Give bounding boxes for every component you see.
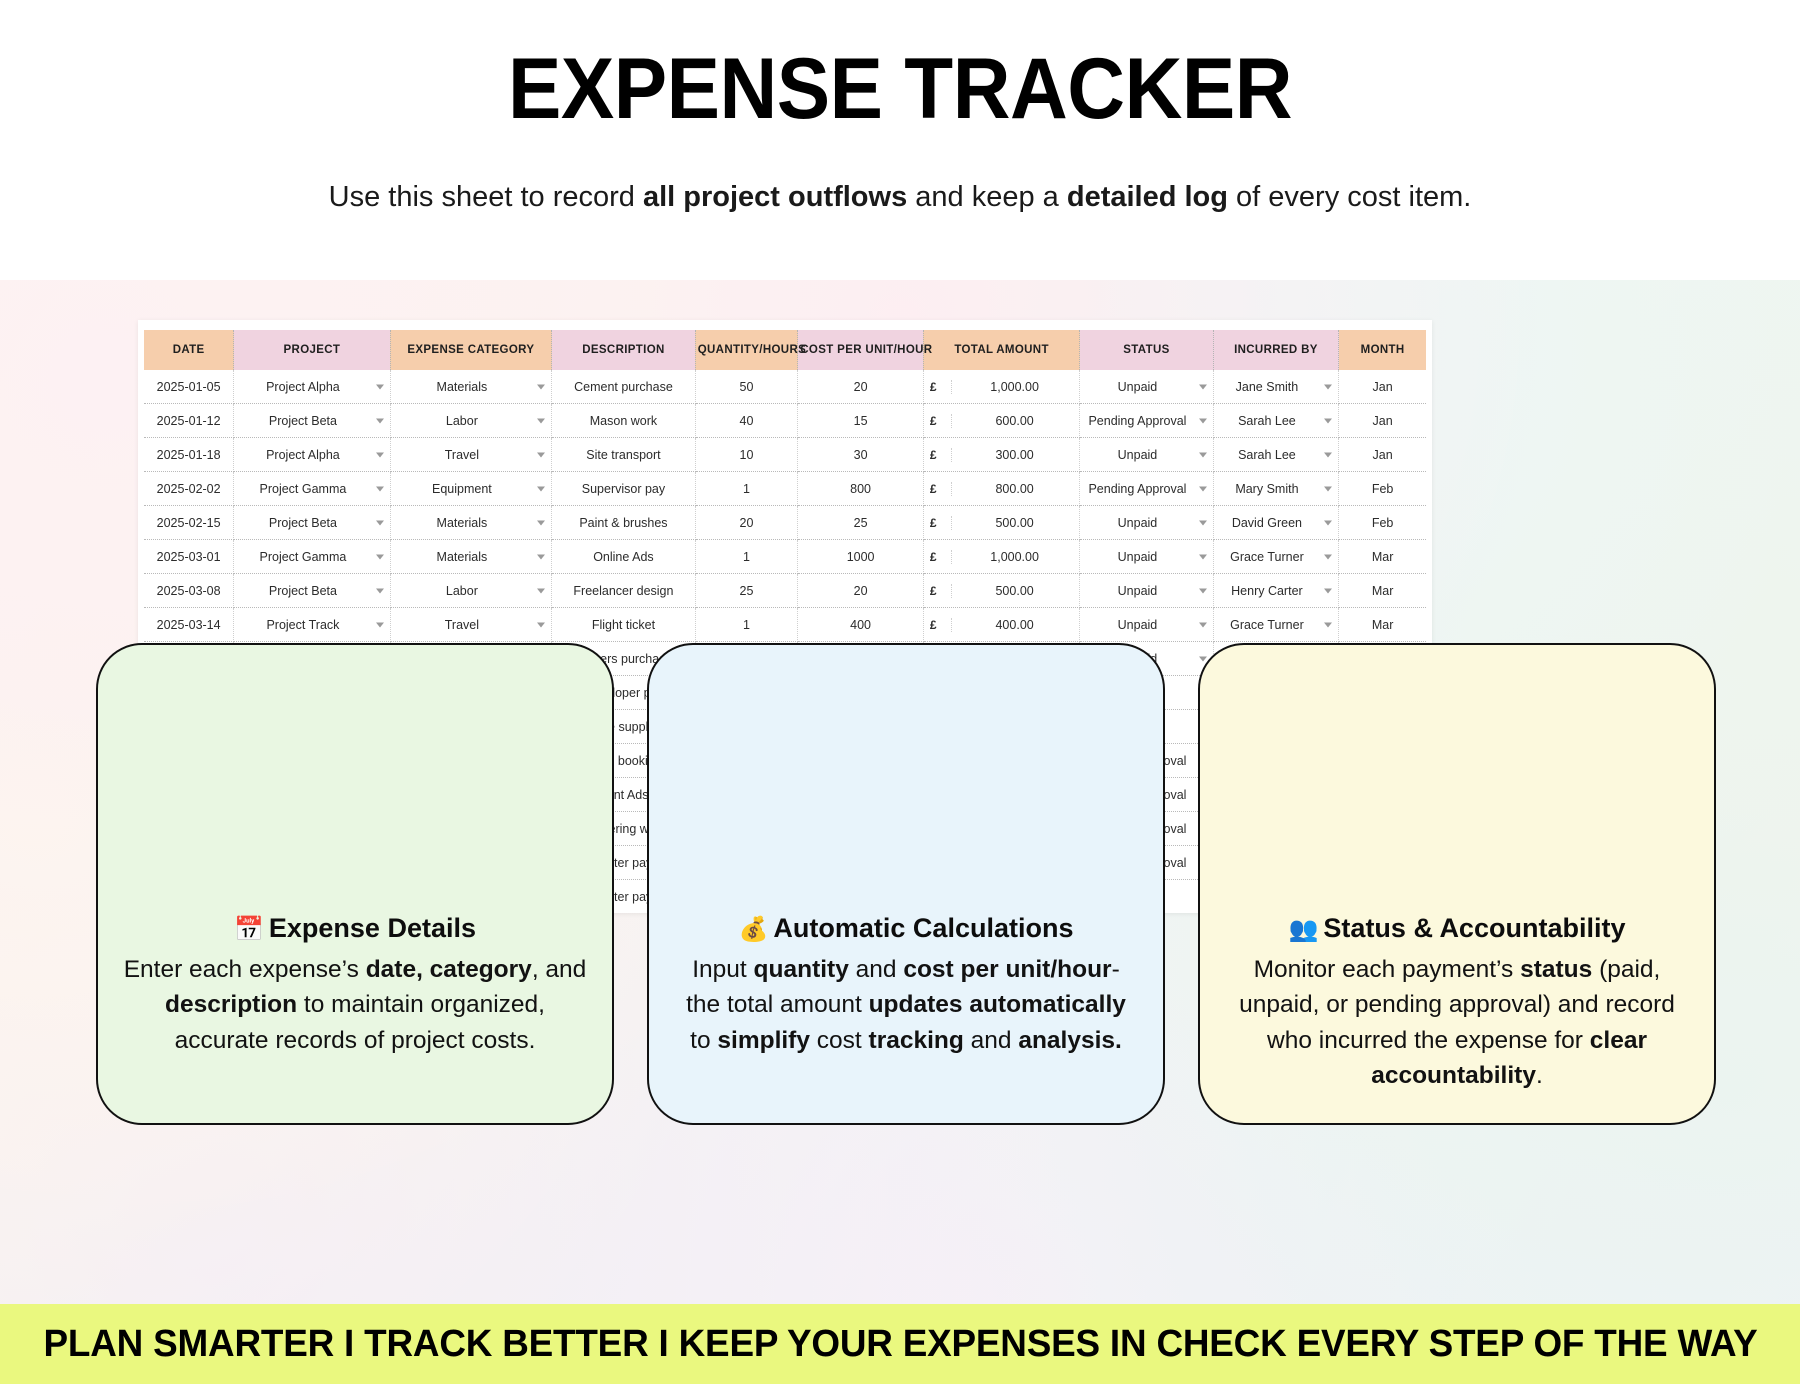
chevron-down-icon[interactable] [537, 520, 545, 525]
cell-date[interactable]: 2025-03-14 [144, 608, 234, 642]
cell-cost[interactable]: 1000 [798, 540, 924, 574]
column-header-date[interactable]: DATE [144, 330, 234, 370]
cell-category[interactable]: Materials [390, 540, 552, 574]
currency-symbol: £ [926, 448, 952, 462]
money-bag-icon: 💰 [739, 915, 769, 943]
cell-total[interactable]: £800.00 [923, 472, 1079, 506]
feature-card-1: 📅Expense DetailsEnter each expense’s dat… [96, 643, 614, 1125]
cell-incurred-by[interactable]: Henry Carter [1213, 574, 1339, 608]
chevron-down-icon[interactable] [1199, 486, 1207, 491]
total-amount-value: 1,000.00 [952, 550, 1077, 564]
cell-cost[interactable]: 20 [798, 574, 924, 608]
column-header-project[interactable]: PROJECT [234, 330, 390, 370]
page-title: EXPENSE TRACKER [63, 46, 1737, 132]
cell-total[interactable]: £500.00 [923, 506, 1079, 540]
cell-cost[interactable]: 400 [798, 608, 924, 642]
cell-incurred-by[interactable]: Mary Smith [1213, 472, 1339, 506]
column-header-cost-per-unit-hour[interactable]: COST PER UNIT/HOUR [798, 330, 924, 370]
chevron-down-icon[interactable] [1199, 622, 1207, 627]
cell-cost[interactable]: 30 [798, 438, 924, 472]
cell-description[interactable]: Online Ads [552, 540, 696, 574]
chevron-down-icon[interactable] [1324, 418, 1332, 423]
cell-date[interactable]: 2025-01-18 [144, 438, 234, 472]
chevron-down-icon[interactable] [537, 452, 545, 457]
chevron-down-icon[interactable] [376, 554, 384, 559]
cell-cost[interactable]: 20 [798, 370, 924, 404]
cell-cost[interactable]: 25 [798, 506, 924, 540]
table-header-row: DATEPROJECTEXPENSE CATEGORYDESCRIPTIONQU… [144, 330, 1426, 370]
column-header-quantity-hours[interactable]: QUANTITY/HOURS [695, 330, 798, 370]
column-header-expense-category[interactable]: EXPENSE CATEGORY [390, 330, 552, 370]
table-row[interactable]: 2025-01-05Project AlphaMaterialsCement p… [144, 370, 1426, 404]
currency-symbol: £ [926, 584, 952, 598]
cell-project[interactable]: Project Beta [234, 404, 390, 438]
chevron-down-icon[interactable] [376, 452, 384, 457]
cell-description[interactable]: Cement purchase [552, 370, 696, 404]
column-header-status[interactable]: STATUS [1080, 330, 1213, 370]
cell-category[interactable]: Materials [390, 370, 552, 404]
cell-status[interactable]: Unpaid [1080, 438, 1213, 472]
cell-category[interactable]: Materials [390, 506, 552, 540]
table-row[interactable]: 2025-03-08Project BetaLaborFreelancer de… [144, 574, 1426, 608]
total-amount-value: 600.00 [952, 414, 1077, 428]
cell-status[interactable]: Unpaid [1080, 608, 1213, 642]
chevron-down-icon[interactable] [1324, 486, 1332, 491]
feature-card-3: 👥Status & AccountabilityMonitor each pay… [1198, 643, 1716, 1125]
cell-incurred-by[interactable]: Jane Smith [1213, 370, 1339, 404]
cell-category[interactable]: Travel [390, 608, 552, 642]
cell-description[interactable]: Site transport [552, 438, 696, 472]
banner-text: PLAN SMARTER I TRACK BETTER I KEEP YOUR … [43, 1323, 1757, 1366]
chevron-down-icon[interactable] [376, 384, 384, 389]
cell-incurred-by[interactable]: Grace Turner [1213, 540, 1339, 574]
chevron-down-icon[interactable] [537, 418, 545, 423]
total-amount-value: 400.00 [952, 618, 1077, 632]
total-amount-value: 1,000.00 [952, 380, 1077, 394]
feature-card-title: 💰Automatic Calculations [673, 913, 1139, 944]
table-row[interactable]: 2025-02-15Project BetaMaterialsPaint & b… [144, 506, 1426, 540]
cell-description[interactable]: Supervisor pay [552, 472, 696, 506]
cell-cost[interactable]: 800 [798, 472, 924, 506]
cell-month[interactable]: Mar [1339, 574, 1426, 608]
cell-status[interactable]: Unpaid [1080, 574, 1213, 608]
cell-total[interactable]: £1,000.00 [923, 540, 1079, 574]
cell-description[interactable]: Paint & brushes [552, 506, 696, 540]
chevron-down-icon[interactable] [537, 622, 545, 627]
currency-symbol: £ [926, 516, 952, 530]
chevron-down-icon[interactable] [376, 588, 384, 593]
cell-quantity[interactable]: 1 [695, 608, 798, 642]
chevron-down-icon[interactable] [1324, 588, 1332, 593]
feature-card-body: Monitor each payment’s status (paid, unp… [1224, 952, 1690, 1093]
chevron-down-icon[interactable] [376, 418, 384, 423]
calendar-icon: 📅 [234, 915, 264, 943]
cell-category[interactable]: Labor [390, 404, 552, 438]
cell-incurred-by[interactable]: Sarah Lee [1213, 404, 1339, 438]
table-row[interactable]: 2025-01-12Project BetaLaborMason work401… [144, 404, 1426, 438]
chevron-down-icon[interactable] [537, 384, 545, 389]
cell-status[interactable]: Pending Approval [1080, 404, 1213, 438]
feature-card-title: 👥Status & Accountability [1224, 913, 1690, 944]
cell-quantity[interactable]: 20 [695, 506, 798, 540]
cell-incurred-by[interactable]: Sarah Lee [1213, 438, 1339, 472]
cell-project[interactable]: Project Gamma [234, 540, 390, 574]
cell-date[interactable]: 2025-01-12 [144, 404, 234, 438]
column-header-total-amount[interactable]: TOTAL AMOUNT [923, 330, 1079, 370]
cell-month[interactable]: Jan [1339, 404, 1426, 438]
currency-symbol: £ [926, 380, 952, 394]
chevron-down-icon[interactable] [1324, 520, 1332, 525]
cell-project[interactable]: Project Beta [234, 574, 390, 608]
cell-date[interactable]: 2025-02-15 [144, 506, 234, 540]
cell-category[interactable]: Labor [390, 574, 552, 608]
chevron-down-icon[interactable] [1324, 554, 1332, 559]
chevron-down-icon[interactable] [1199, 554, 1207, 559]
chevron-down-icon[interactable] [376, 622, 384, 627]
table-row[interactable]: 2025-02-02Project GammaEquipmentSupervis… [144, 472, 1426, 506]
cell-date[interactable]: 2025-01-05 [144, 370, 234, 404]
currency-symbol: £ [926, 550, 952, 564]
cell-quantity[interactable]: 10 [695, 438, 798, 472]
total-amount-value: 500.00 [952, 516, 1077, 530]
cell-month[interactable]: Jan [1339, 438, 1426, 472]
currency-symbol: £ [926, 482, 952, 496]
cell-month[interactable]: Feb [1339, 472, 1426, 506]
table-row[interactable]: 2025-03-14Project TrackTravelFlight tick… [144, 608, 1426, 642]
chevron-down-icon[interactable] [1199, 520, 1207, 525]
chevron-down-icon[interactable] [376, 486, 384, 491]
cell-cost[interactable]: 15 [798, 404, 924, 438]
chevron-down-icon[interactable] [1199, 588, 1207, 593]
cell-project[interactable]: Project Track [234, 608, 390, 642]
cell-date[interactable]: 2025-03-08 [144, 574, 234, 608]
page-header: EXPENSE TRACKER Use this sheet to record… [0, 0, 1800, 221]
cell-total[interactable]: £1,000.00 [923, 370, 1079, 404]
cell-month[interactable]: Feb [1339, 506, 1426, 540]
cell-incurred-by[interactable]: David Green [1213, 506, 1339, 540]
chevron-down-icon[interactable] [537, 588, 545, 593]
feature-card-2: 💰Automatic CalculationsInput quantity an… [647, 643, 1165, 1125]
chevron-down-icon[interactable] [1324, 452, 1332, 457]
cell-quantity[interactable]: 25 [695, 574, 798, 608]
total-amount-value: 300.00 [952, 448, 1077, 462]
cell-quantity[interactable]: 40 [695, 404, 798, 438]
feature-card-body: Input quantity and cost per unit/hour- t… [673, 952, 1139, 1058]
chevron-down-icon[interactable] [1324, 384, 1332, 389]
feature-card-body: Enter each expense’s date, category, and… [122, 952, 588, 1058]
cell-description[interactable]: Freelancer design [552, 574, 696, 608]
total-amount-value: 500.00 [952, 584, 1077, 598]
cell-category[interactable]: Equipment [390, 472, 552, 506]
cell-project[interactable]: Project Alpha [234, 438, 390, 472]
column-header-incurred-by[interactable]: INCURRED BY [1213, 330, 1339, 370]
currency-symbol: £ [926, 414, 952, 428]
cell-category[interactable]: Travel [390, 438, 552, 472]
chevron-down-icon[interactable] [376, 520, 384, 525]
cell-month[interactable]: Mar [1339, 540, 1426, 574]
cell-total[interactable]: £600.00 [923, 404, 1079, 438]
cell-total[interactable]: £500.00 [923, 574, 1079, 608]
feature-card-title: 📅Expense Details [122, 913, 588, 944]
cell-month[interactable]: Jan [1339, 370, 1426, 404]
chevron-down-icon[interactable] [537, 554, 545, 559]
table-row[interactable]: 2025-01-18Project AlphaTravelSite transp… [144, 438, 1426, 472]
cell-status[interactable]: Unpaid [1080, 540, 1213, 574]
cell-description[interactable]: Flight ticket [552, 608, 696, 642]
cell-incurred-by[interactable]: Grace Turner [1213, 608, 1339, 642]
chevron-down-icon[interactable] [1324, 622, 1332, 627]
table-row[interactable]: 2025-03-01Project GammaMaterialsOnline A… [144, 540, 1426, 574]
total-amount-value: 800.00 [952, 482, 1077, 496]
cell-quantity[interactable]: 1 [695, 472, 798, 506]
chevron-down-icon[interactable] [1199, 384, 1207, 389]
cell-date[interactable]: 2025-02-02 [144, 472, 234, 506]
chevron-down-icon[interactable] [537, 486, 545, 491]
cell-date[interactable]: 2025-03-01 [144, 540, 234, 574]
cell-project[interactable]: Project Beta [234, 506, 390, 540]
busts-in-silhouette-icon: 👥 [1289, 915, 1319, 943]
cell-status[interactable]: Pending Approval [1080, 472, 1213, 506]
feature-cards: 📅Expense DetailsEnter each expense’s dat… [96, 643, 1716, 1125]
cell-quantity[interactable]: 50 [695, 370, 798, 404]
cell-quantity[interactable]: 1 [695, 540, 798, 574]
bottom-banner: PLAN SMARTER I TRACK BETTER I KEEP YOUR … [0, 1304, 1800, 1384]
currency-symbol: £ [926, 618, 952, 632]
column-header-month[interactable]: MONTH [1339, 330, 1426, 370]
cell-status[interactable]: Unpaid [1080, 370, 1213, 404]
cell-description[interactable]: Mason work [552, 404, 696, 438]
chevron-down-icon[interactable] [1199, 418, 1207, 423]
page-subtitle: Use this sheet to record all project out… [270, 174, 1530, 221]
column-header-description[interactable]: DESCRIPTION [552, 330, 696, 370]
chevron-down-icon[interactable] [1199, 452, 1207, 457]
cell-project[interactable]: Project Alpha [234, 370, 390, 404]
cell-project[interactable]: Project Gamma [234, 472, 390, 506]
cell-month[interactable]: Mar [1339, 608, 1426, 642]
cell-total[interactable]: £300.00 [923, 438, 1079, 472]
cell-total[interactable]: £400.00 [923, 608, 1079, 642]
cell-status[interactable]: Unpaid [1080, 506, 1213, 540]
